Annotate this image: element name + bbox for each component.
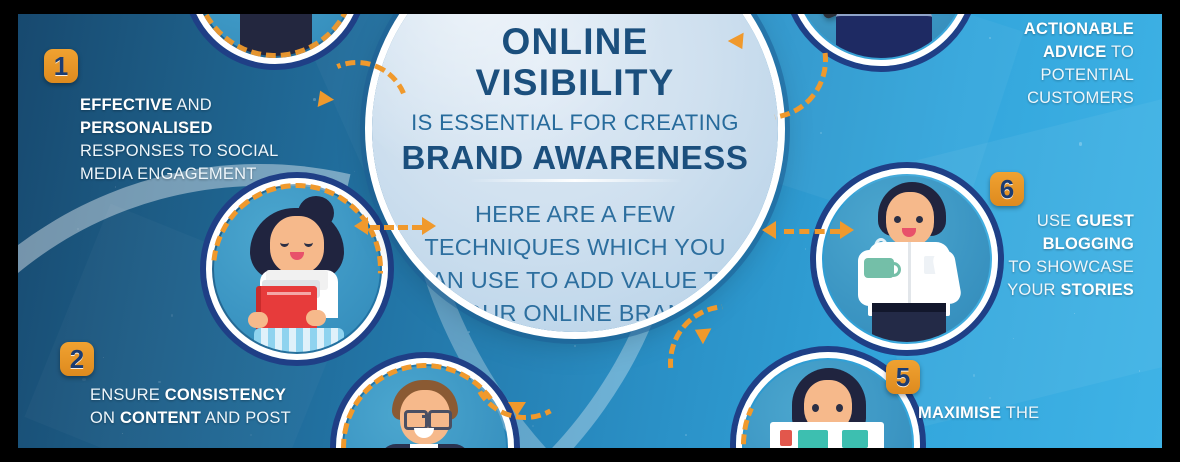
circle-person-with-books — [214, 186, 380, 352]
badge-2: 2 — [60, 342, 94, 376]
infographic-canvas: ONLINE VISIBILITY IS ESSENTIAL FOR CREAT… — [18, 14, 1162, 448]
circle-person-standing-top-left — [196, 14, 354, 56]
hub-line-4: BRAND AWARENESS — [372, 139, 778, 177]
caption-5: MAXIMISE THE — [918, 402, 1128, 425]
infographic-frame: ONLINE VISIBILITY IS ESSENTIAL FOR CREAT… — [0, 0, 1180, 462]
hub-divider — [468, 179, 682, 182]
caption-6: USE GUESTBLOGGINGTO SHOWCASEYOUR STORIES — [958, 210, 1134, 302]
caption-actionable-advice: ACTIONABLEADVICE TOPOTENTIALCUSTOMERS — [948, 18, 1134, 110]
hub-line-3: IS ESSENTIAL FOR CREATING — [372, 108, 778, 138]
badge-5: 5 — [886, 360, 920, 394]
badge-6: 6 — [990, 172, 1024, 206]
caption-1: EFFECTIVE ANDPERSONALISEDRESPONSES TO SO… — [80, 94, 300, 186]
badge-1: 1 — [44, 49, 78, 83]
caption-2: ENSURE CONSISTENCYON CONTENT AND POST — [90, 384, 340, 430]
coffee-cup-icon — [864, 258, 894, 278]
